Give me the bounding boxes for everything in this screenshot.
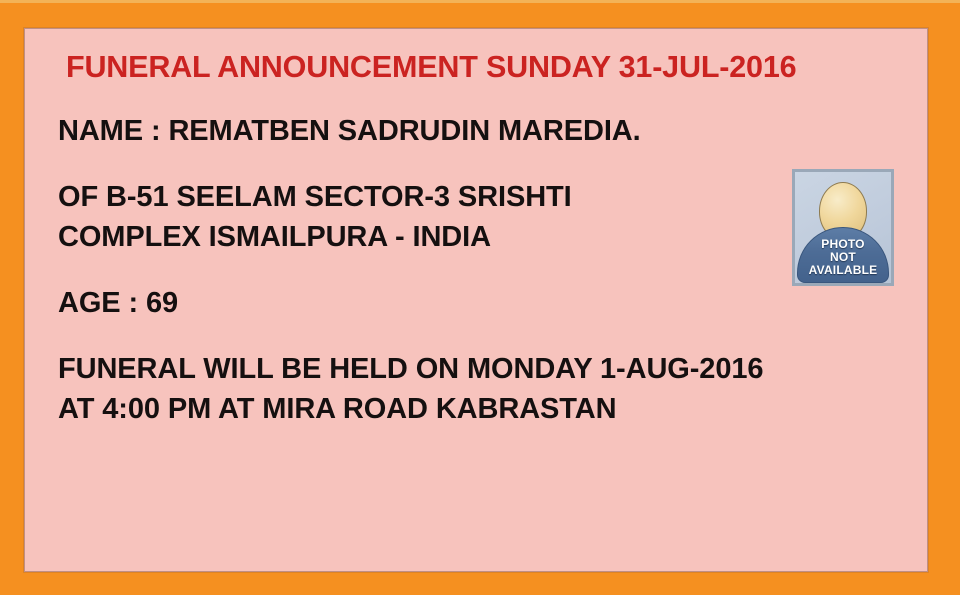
announcement-body: NAME : REMATBEN SADRUDIN MAREDIA. OF B-5… — [58, 111, 818, 429]
photo-placeholder-caption: PHOTO NOT AVAILABLE — [795, 238, 891, 277]
age-line: AGE : 69 — [58, 283, 818, 323]
age-block: AGE : 69 — [58, 283, 818, 323]
announcement-panel: FUNERAL ANNOUNCEMENT SUNDAY 31-JUL-2016 … — [24, 28, 928, 572]
page-title: FUNERAL ANNOUNCEMENT SUNDAY 31-JUL-2016 — [66, 49, 893, 85]
photo-placeholder-background: PHOTO NOT AVAILABLE — [795, 172, 891, 283]
name-line: NAME : REMATBEN SADRUDIN MAREDIA. — [58, 111, 818, 151]
address-line-1: OF B-51 SEELAM SECTOR-3 SRISHTI — [58, 177, 818, 217]
photo-not-available-placeholder: PHOTO NOT AVAILABLE — [792, 169, 894, 286]
name-block: NAME : REMATBEN SADRUDIN MAREDIA. — [58, 111, 818, 151]
funeral-line-1: FUNERAL WILL BE HELD ON MONDAY 1-AUG-201… — [58, 349, 818, 389]
funeral-details-block: FUNERAL WILL BE HELD ON MONDAY 1-AUG-201… — [58, 349, 818, 429]
photo-caption-line-3: AVAILABLE — [795, 264, 891, 277]
funeral-announcement-poster: FUNERAL ANNOUNCEMENT SUNDAY 31-JUL-2016 … — [0, 0, 960, 595]
funeral-line-2: AT 4:00 PM AT MIRA ROAD KABRASTAN — [58, 389, 818, 429]
address-block: OF B-51 SEELAM SECTOR-3 SRISHTI COMPLEX … — [58, 177, 818, 257]
address-line-2: COMPLEX ISMAILPURA - INDIA — [58, 217, 818, 257]
